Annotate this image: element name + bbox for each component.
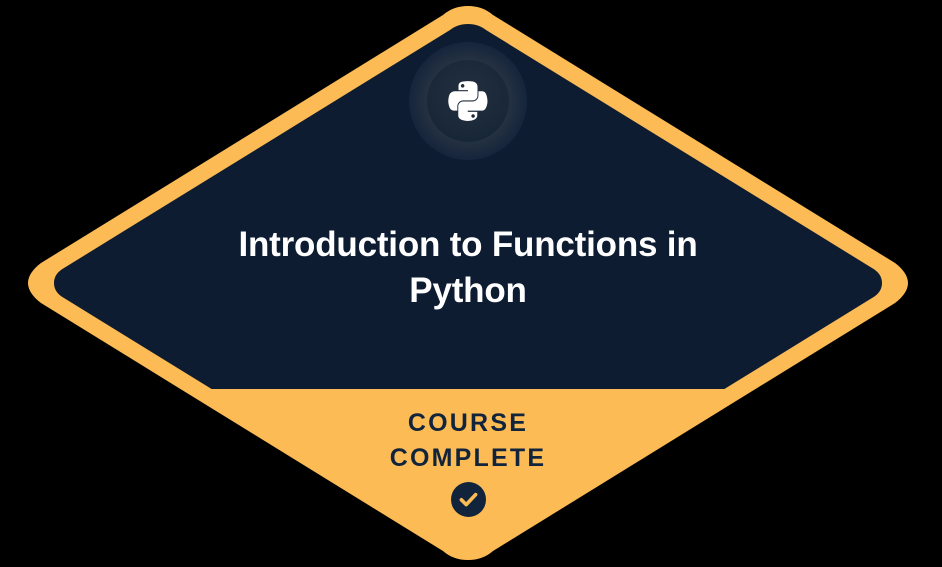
course-completion-badge: Introduction to Functions in Python COUR… — [0, 0, 942, 567]
logo-glow — [409, 42, 527, 160]
badge-graphic — [0, 0, 942, 567]
